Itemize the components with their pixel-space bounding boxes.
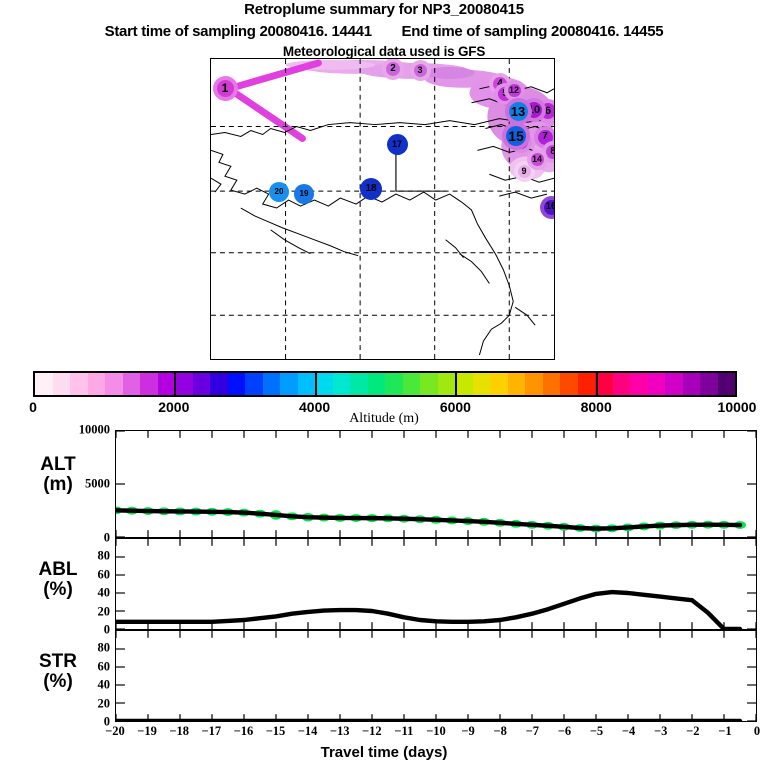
colorbar-swatch bbox=[53, 373, 71, 395]
alt-ytick-labels: 0500010000 bbox=[60, 430, 110, 538]
xtick-label: −11 bbox=[394, 724, 413, 739]
ytick-label: 40 bbox=[98, 586, 111, 601]
colorbar-swatch bbox=[140, 373, 158, 395]
xtick-label: −20 bbox=[105, 724, 125, 739]
xtick-label: −2 bbox=[686, 724, 699, 739]
colorbar-swatch bbox=[648, 373, 666, 395]
xtick-label: −3 bbox=[654, 724, 667, 739]
map-trajectory-marker: 17 bbox=[391, 138, 404, 151]
colorbar-swatch bbox=[683, 373, 701, 395]
colorbar-axis-label: Altitude (m) bbox=[0, 411, 768, 427]
abl-plot bbox=[115, 538, 757, 630]
colorbar-swatch bbox=[630, 373, 648, 395]
xtick-label: −12 bbox=[362, 724, 382, 739]
map-trajectory-marker: 19 bbox=[298, 188, 310, 200]
colorbar-divider bbox=[315, 371, 317, 397]
colorbar-swatch bbox=[718, 373, 736, 395]
map-trajectory-marker: 18 bbox=[364, 182, 378, 196]
colorbar-swatch bbox=[123, 373, 141, 395]
xtick-label: −8 bbox=[494, 724, 507, 739]
colorbar-swatch bbox=[158, 373, 176, 395]
colorbar-swatch bbox=[560, 373, 578, 395]
colorbar-swatch bbox=[385, 373, 403, 395]
colorbar-swatch bbox=[543, 373, 561, 395]
data-line bbox=[116, 592, 740, 629]
map-trajectory-marker: 20 bbox=[273, 186, 285, 198]
colorbar-swatch bbox=[613, 373, 631, 395]
alt-plot-graphics bbox=[116, 431, 756, 537]
str-ytick-labels: 020406080 bbox=[60, 630, 110, 722]
colorbar-swatch bbox=[473, 373, 491, 395]
ytick-label: 60 bbox=[98, 567, 111, 582]
xtick-label: −17 bbox=[201, 724, 221, 739]
ytick-label: 5000 bbox=[85, 477, 110, 492]
colorbar-swatch bbox=[298, 373, 316, 395]
map-trajectory-marker: 3 bbox=[414, 64, 427, 77]
colorbar-swatch bbox=[455, 373, 473, 395]
sampling-time-line: Start time of sampling 20080416. 14441 E… bbox=[0, 23, 768, 40]
xtick-label: −7 bbox=[526, 724, 539, 739]
ytick-label: 40 bbox=[98, 678, 111, 693]
altitude-colorbar bbox=[33, 371, 737, 397]
xtick-label: −13 bbox=[330, 724, 350, 739]
axis-ticks bbox=[116, 631, 756, 721]
met-data-text: Meteorological data used is GFS bbox=[0, 44, 768, 59]
colorbar-swatch bbox=[665, 373, 683, 395]
colorbar-swatch bbox=[105, 373, 123, 395]
xtick-label: −1 bbox=[718, 724, 731, 739]
abl-ytick-labels: 020406080 bbox=[60, 538, 110, 630]
map-trajectory-marker: 16 bbox=[544, 200, 556, 215]
map-trajectory-marker: 10 bbox=[526, 102, 542, 118]
xtick-label: −18 bbox=[169, 724, 189, 739]
page-title: Retroplume summary for NP3_20080415 bbox=[0, 1, 768, 18]
colorbar-swatch bbox=[228, 373, 246, 395]
colorbar-divider bbox=[596, 371, 598, 397]
end-time-text: End time of sampling 20080416. 14455 bbox=[401, 23, 663, 40]
ytick-label: 10000 bbox=[79, 423, 110, 438]
map-trajectory-marker: 1 bbox=[217, 80, 234, 97]
map-trajectory-marker: 15 bbox=[506, 126, 526, 146]
colorbar-swatch bbox=[403, 373, 421, 395]
colorbar-divider bbox=[174, 371, 176, 397]
ytick-label: 20 bbox=[98, 604, 111, 619]
colorbar-swatch bbox=[490, 373, 508, 395]
colorbar-swatch bbox=[438, 373, 456, 395]
retroplume-map: 1234567891011121314151617181920 bbox=[210, 58, 555, 360]
colorbar-swatch bbox=[88, 373, 106, 395]
start-time-text: Start time of sampling 20080416. 14441 bbox=[105, 23, 372, 40]
colorbar-swatch bbox=[368, 373, 386, 395]
coastline bbox=[211, 85, 554, 355]
map-trajectory-marker: 12 bbox=[508, 84, 521, 97]
colorbar-swatch bbox=[35, 373, 53, 395]
xtick-label: −15 bbox=[266, 724, 286, 739]
map-trajectory-marker: 7 bbox=[538, 130, 553, 145]
data-line bbox=[116, 510, 740, 528]
str-plot-graphics bbox=[116, 631, 756, 721]
colorbar-swatch bbox=[175, 373, 193, 395]
ytick-label: 20 bbox=[98, 696, 111, 711]
xtick-label: −5 bbox=[590, 724, 603, 739]
sampling-box bbox=[396, 143, 446, 191]
xtick-label: −6 bbox=[558, 724, 571, 739]
xaxis-label: Travel time (days) bbox=[0, 744, 768, 761]
xtick-label: −14 bbox=[298, 724, 318, 739]
ytick-label: 60 bbox=[98, 659, 111, 674]
colorbar-swatch bbox=[70, 373, 88, 395]
str-plot bbox=[115, 630, 757, 722]
trajectory-ribbon bbox=[229, 63, 318, 138]
colorbar-swatch bbox=[578, 373, 596, 395]
xtick-label: −16 bbox=[234, 724, 254, 739]
xtick-label: −9 bbox=[461, 724, 474, 739]
colorbar-swatch bbox=[245, 373, 263, 395]
colorbar-swatch bbox=[210, 373, 228, 395]
colorbar-swatch bbox=[193, 373, 211, 395]
xaxis-tick-labels: −20−19−18−17−16−15−14−13−12−11−10−9−8−7−… bbox=[0, 724, 768, 742]
colorbar-swatch bbox=[333, 373, 351, 395]
xtick-label: −19 bbox=[137, 724, 157, 739]
colorbar-swatch bbox=[700, 373, 718, 395]
map-trajectory-marker: 2 bbox=[386, 62, 400, 76]
colorbar-swatch bbox=[525, 373, 543, 395]
map-trajectory-marker: 9 bbox=[518, 165, 531, 178]
map-trajectory-marker: 13 bbox=[509, 102, 528, 121]
colorbar-swatch bbox=[280, 373, 298, 395]
xtick-label: −10 bbox=[426, 724, 446, 739]
colorbar-swatch bbox=[315, 373, 333, 395]
colorbar-swatch bbox=[263, 373, 281, 395]
alt-plot bbox=[115, 430, 757, 538]
colorbar-divider bbox=[455, 371, 457, 397]
colorbar-swatch bbox=[420, 373, 438, 395]
xtick-label: −4 bbox=[622, 724, 635, 739]
map-trajectory-marker: 6 bbox=[540, 103, 555, 119]
colorbar-gradient bbox=[33, 371, 737, 397]
map-graphics bbox=[211, 59, 554, 359]
colorbar-swatch bbox=[508, 373, 526, 395]
xtick-label: 0 bbox=[754, 724, 760, 739]
abl-plot-graphics bbox=[116, 539, 756, 629]
map-trajectory-marker: 14 bbox=[531, 153, 544, 166]
map-trajectory-marker: 8 bbox=[546, 145, 555, 159]
colorbar-swatch bbox=[350, 373, 368, 395]
axis-ticks bbox=[116, 539, 756, 629]
ytick-label: 80 bbox=[98, 549, 111, 564]
ytick-label: 80 bbox=[98, 641, 111, 656]
